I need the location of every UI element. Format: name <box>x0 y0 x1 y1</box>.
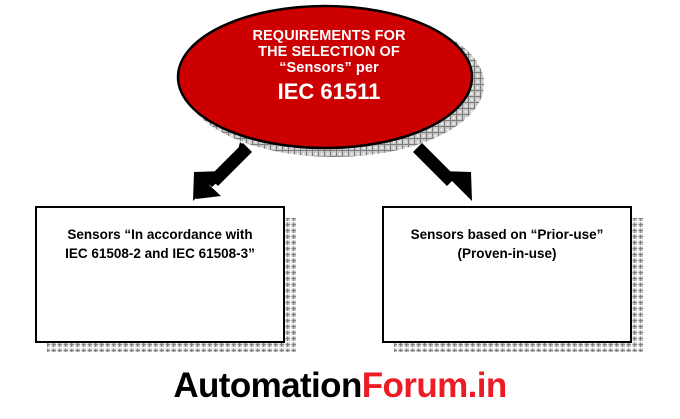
title-ellipse <box>178 6 472 148</box>
site-watermark: AutomationForum.in <box>0 366 680 406</box>
watermark-text-accent: Forum.in <box>362 366 507 405</box>
arrow-to-left-box <box>193 142 252 201</box>
left-branch-box-text: Sensors “In accordance with IEC 61508-2 … <box>63 208 258 263</box>
watermark-text-dark: Automation <box>173 366 361 405</box>
right-branch-box-text: Sensors based on “Prior-use” (Proven-in-… <box>402 208 612 263</box>
left-branch-box: Sensors “In accordance with IEC 61508-2 … <box>35 206 285 343</box>
arrow-to-right-box <box>413 143 472 201</box>
diagram-canvas: REQUIREMENTS FOR THE SELECTION OF “Senso… <box>0 0 680 419</box>
right-branch-box: Sensors based on “Prior-use” (Proven-in-… <box>382 206 632 343</box>
